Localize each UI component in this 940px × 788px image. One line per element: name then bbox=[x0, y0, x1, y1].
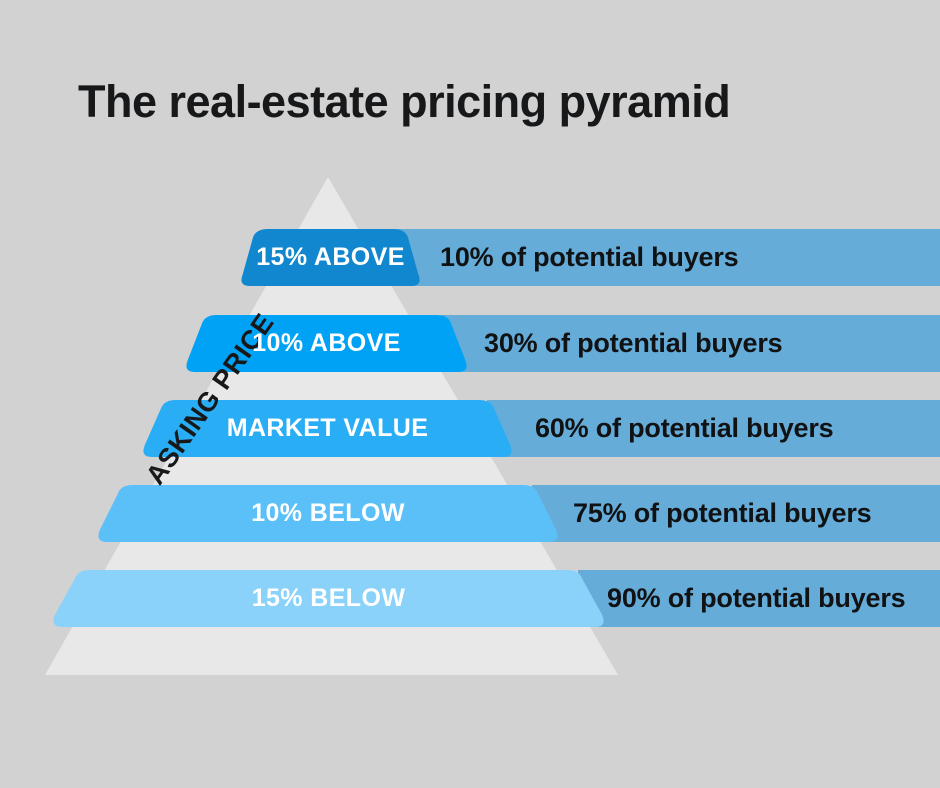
tier-label: 15% BELOW bbox=[252, 584, 406, 613]
pyramid-backdrop-icon bbox=[0, 0, 940, 788]
pricing-tier-block[interactable]: 10% BELOW bbox=[95, 485, 561, 542]
infographic-canvas: The real-estate pricing pyramid 10% of p… bbox=[0, 0, 940, 788]
buyers-percentage-text: 90% of potential buyers bbox=[607, 583, 905, 614]
pricing-tier-block[interactable]: 15% BELOW bbox=[50, 570, 607, 627]
buyers-percentage-text: 60% of potential buyers bbox=[535, 413, 833, 444]
tier-label: 10% BELOW bbox=[251, 499, 405, 528]
tier-label: 10% ABOVE bbox=[252, 329, 401, 358]
pricing-tier-block[interactable]: 15% ABOVE bbox=[238, 229, 423, 286]
tier-label: 15% ABOVE bbox=[256, 243, 405, 272]
buyers-percentage-text: 10% of potential buyers bbox=[440, 242, 738, 273]
buyers-percentage-text: 75% of potential buyers bbox=[573, 498, 871, 529]
buyers-percentage-text: 30% of potential buyers bbox=[484, 328, 782, 359]
tier-label: MARKET VALUE bbox=[227, 414, 429, 443]
